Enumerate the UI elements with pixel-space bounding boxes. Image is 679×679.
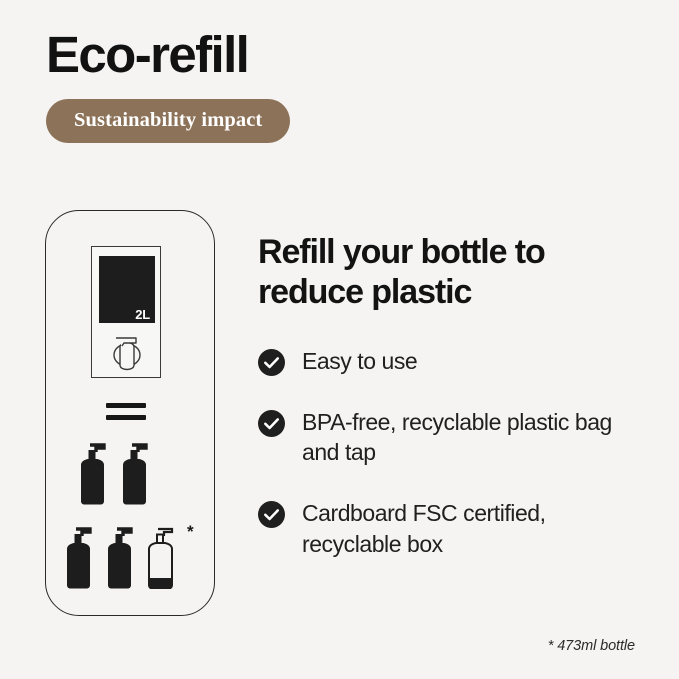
- feature-label: Cardboard FSC certified, recyclable box: [302, 498, 648, 559]
- pump-bottle-filled-icon: [119, 443, 150, 505]
- page-title: Eco-refill: [46, 28, 646, 82]
- content-column: Refill your bottle to reduce plastic Eas…: [258, 232, 648, 559]
- feature-label: BPA-free, recyclable plastic bag and tap: [302, 407, 648, 468]
- list-item: Cardboard FSC certified, recyclable box: [258, 498, 648, 559]
- pump-bottle-filled-icon: [104, 527, 135, 589]
- status-badge: Sustainability impact: [46, 99, 290, 144]
- pump-bottle-filled-icon: [63, 527, 94, 589]
- pump-bottle-empty-icon: [145, 527, 176, 589]
- bottle-row-top: [77, 443, 150, 505]
- footnote: * 473ml bottle: [548, 638, 635, 654]
- list-item: BPA-free, recyclable plastic bag and tap: [258, 407, 648, 468]
- list-item: Easy to use: [258, 346, 648, 377]
- tap-spout-icon: [92, 327, 160, 375]
- footnote-asterisk-marker: *: [187, 523, 194, 540]
- equals-bar-bottom: [106, 415, 146, 420]
- equals-sign-icon: [106, 403, 146, 420]
- equals-bar-top: [106, 403, 146, 408]
- check-circle-icon: [258, 349, 285, 376]
- refill-carton-icon: 2L: [91, 246, 161, 378]
- header: Eco-refill Sustainability impact: [46, 28, 646, 143]
- feature-label: Easy to use: [302, 346, 417, 377]
- carton-volume-label: 2L: [135, 308, 150, 321]
- bottle-row-bottom: [63, 527, 176, 589]
- carton-bag-window: 2L: [99, 256, 155, 323]
- check-circle-icon: [258, 410, 285, 437]
- feature-list: Easy to use BPA-free, recyclable plastic…: [258, 346, 648, 559]
- content-heading: Refill your bottle to reduce plastic: [258, 232, 648, 312]
- pump-bottle-filled-icon: [77, 443, 108, 505]
- product-illustration-panel: 2L: [45, 210, 215, 616]
- check-circle-icon: [258, 501, 285, 528]
